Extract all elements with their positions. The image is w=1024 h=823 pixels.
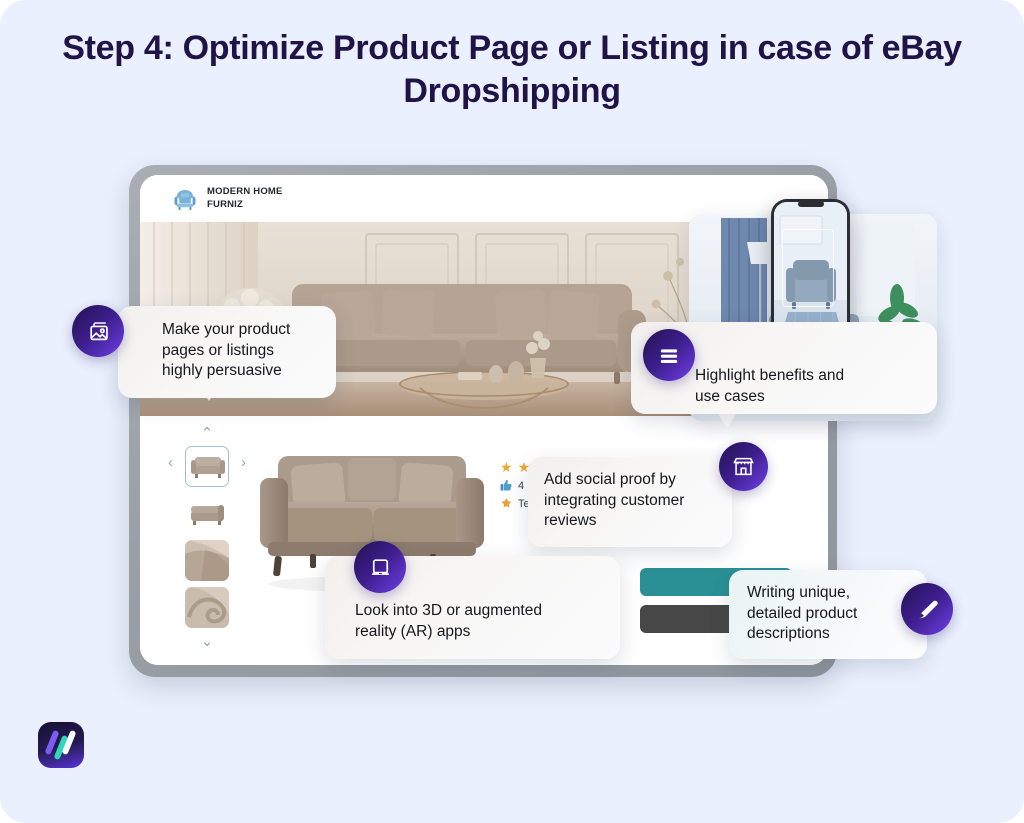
callout-4-text: Look into 3D or augmented reality (AR) a… <box>355 601 602 642</box>
sofa-armrest-thumbnail[interactable] <box>185 540 229 581</box>
infographic-canvas: Step 4: Optimize Product Page or Listing… <box>0 0 1024 823</box>
image-icon <box>72 305 124 357</box>
callout-2-text: Highlight benefits and use cases <box>695 366 917 407</box>
callout-1-text: Make your product pages or listings high… <box>140 320 320 382</box>
sofa-side-thumbnail[interactable] <box>185 493 229 534</box>
app-logo[interactable] <box>38 722 84 768</box>
list-menu-icon <box>643 329 695 381</box>
sofa-front-thumbnail[interactable] <box>185 446 229 487</box>
like-count: 4 <box>518 480 524 492</box>
callout-3-text: Add social proof by integrating customer… <box>544 470 716 532</box>
callout-5-text: Writing unique, detailed product descrip… <box>747 583 909 645</box>
laptop-icon <box>354 541 406 593</box>
thumbs-up-icon <box>500 479 513 492</box>
star-badge-icon <box>500 497 513 510</box>
pencil-edit-icon <box>901 583 953 635</box>
phone-notch <box>798 201 824 207</box>
storefront-icon <box>719 442 768 491</box>
chevron-down-icon[interactable]: ⌄ <box>201 634 214 648</box>
armchair-icon <box>172 187 198 211</box>
page-title: Step 4: Optimize Product Page or Listing… <box>0 27 1024 113</box>
callout-unique-descriptions[interactable]: Writing unique, detailed product descrip… <box>729 570 927 659</box>
callout-add-social-proof[interactable]: Add social proof by integrating customer… <box>528 457 732 547</box>
ar-bounding-box <box>782 229 834 307</box>
callout-make-pages-persuasive[interactable]: Make your product pages or listings high… <box>118 306 336 398</box>
thumbnail-gallery[interactable]: ⌃ <box>168 426 246 648</box>
brand-name: MODERN HOME FURNIZ <box>207 186 283 211</box>
fabric-detail-thumbnail[interactable] <box>185 587 229 628</box>
star-icon: ★ <box>500 460 513 474</box>
chevron-up-icon[interactable]: ⌃ <box>201 426 214 440</box>
